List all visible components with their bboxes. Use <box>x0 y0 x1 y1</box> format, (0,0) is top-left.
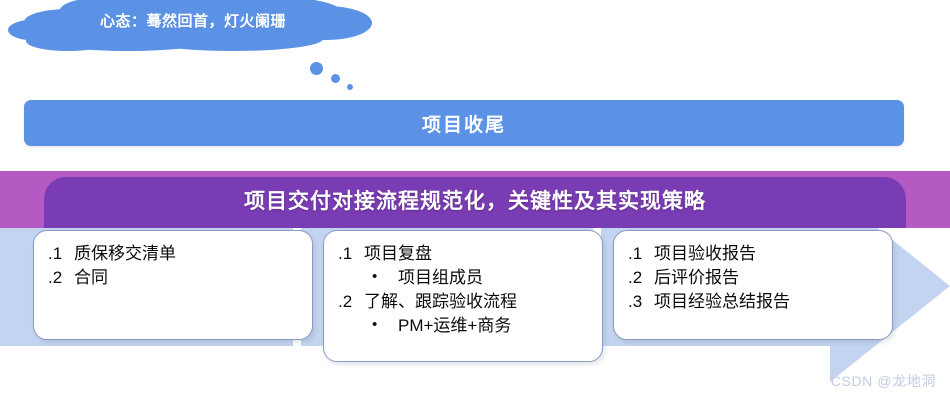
bullet-icon: • <box>372 266 398 289</box>
watermark: CSDN @龙地洞 <box>831 371 936 391</box>
list-item-label: 后评价报告 <box>654 266 739 290</box>
activities-column-list: .1 项目复盘 • 项目组成员 .2 了解、跟踪验收流程 • PM+运维+商务 <box>324 231 602 339</box>
list-item-label: 项目经验总结报告 <box>654 290 790 314</box>
list-item-number: .2 <box>338 290 364 314</box>
input-column-list: .1 质保移交清单 .2 合同 <box>34 231 312 290</box>
list-subitem: • 项目组成员 <box>338 266 602 290</box>
list-item: .1 项目复盘 <box>338 242 602 266</box>
list-item-number: .1 <box>48 242 74 266</box>
content-columns: .1 质保移交清单 .2 合同 .1 项目复盘 • 项目组成员 <box>0 0 950 400</box>
list-item-label: 项目复盘 <box>364 242 432 266</box>
list-item-number: .2 <box>628 266 654 290</box>
list-subitem-label: 项目组成员 <box>398 266 483 290</box>
list-subitem: • PM+运维+商务 <box>338 314 602 338</box>
list-item-number: .3 <box>628 290 654 314</box>
bullet-icon: • <box>372 314 398 337</box>
output-column-list: .1 项目验收报告 .2 后评价报告 .3 项目经验总结报告 <box>614 231 892 314</box>
slide-canvas: 心态：蓦然回首，灯火阑珊 项目收尾 输入 活动与干系人 输出 项目交付对接流程 <box>0 0 950 400</box>
list-subitem-label: PM+运维+商务 <box>398 314 511 338</box>
list-item-label: 了解、跟踪验收流程 <box>364 290 517 314</box>
list-item-number: .1 <box>628 242 654 266</box>
list-item-number: .1 <box>338 242 364 266</box>
activities-column-box[interactable]: .1 项目复盘 • 项目组成员 .2 了解、跟踪验收流程 • PM+运维+商务 <box>323 230 603 362</box>
list-item-number: .2 <box>48 266 74 290</box>
list-item-label: 质保移交清单 <box>74 242 176 266</box>
list-item: .1 质保移交清单 <box>48 242 312 266</box>
list-item: .3 项目经验总结报告 <box>628 290 892 314</box>
list-item: .2 后评价报告 <box>628 266 892 290</box>
list-item: .2 了解、跟踪验收流程 <box>338 290 602 314</box>
list-item-label: 合同 <box>74 266 108 290</box>
list-item-label: 项目验收报告 <box>654 242 756 266</box>
output-column-box[interactable]: .1 项目验收报告 .2 后评价报告 .3 项目经验总结报告 <box>613 230 893 340</box>
list-item: .2 合同 <box>48 266 312 290</box>
list-item: .1 项目验收报告 <box>628 242 892 266</box>
input-column-box[interactable]: .1 质保移交清单 .2 合同 <box>33 230 313 340</box>
